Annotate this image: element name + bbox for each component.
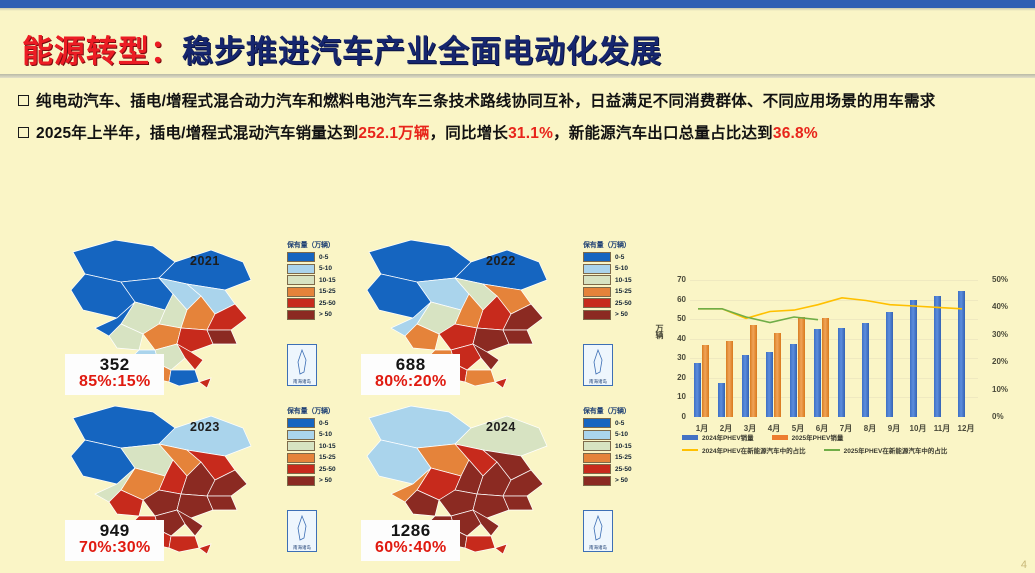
chart-line-layer bbox=[690, 280, 978, 417]
map-stat-box-2022: 688 80%:20% bbox=[361, 354, 460, 395]
legend-value: 10-15 bbox=[319, 443, 336, 450]
bullet-text-2: 2025年上半年，插电/增程式混动汽车销量达到252.1万辆，同比增长31.1%… bbox=[36, 120, 818, 148]
chart-ytick: 30 bbox=[668, 353, 686, 362]
map-panel-2023: 2023 保有量（万辆） 0-5 5-10 10-15 15-25 25-50 … bbox=[55, 398, 345, 561]
legend-swatch bbox=[583, 418, 611, 428]
legend-row: 10-15 bbox=[287, 441, 351, 451]
title-divider bbox=[0, 74, 1035, 78]
legend-swatch bbox=[583, 453, 611, 463]
legend-key-bar-2025 bbox=[772, 435, 788, 440]
chart-y2tick: 50% bbox=[992, 275, 1008, 284]
map-year-label-2021: 2021 bbox=[190, 254, 220, 268]
legend-row: 15-25 bbox=[287, 453, 351, 463]
map-legend-2021: 保有量（万辆） 0-5 5-10 10-15 15-25 25-50 > 50 bbox=[287, 240, 351, 321]
south-sea-inset-2024: 南海诸岛 bbox=[583, 510, 613, 552]
chart-plot-area bbox=[690, 280, 978, 417]
legend-swatch bbox=[583, 430, 611, 440]
legend-item-bar-2025[interactable]: 2025年PHEV销量 bbox=[772, 432, 844, 442]
map-legend-2022: 保有量（万辆） 0-5 5-10 10-15 15-25 25-50 > 50 bbox=[583, 240, 647, 321]
legend-row: 5-10 bbox=[583, 264, 647, 274]
legend-value: 15-25 bbox=[319, 454, 336, 461]
map-legend-2024: 保有量（万辆） 0-5 5-10 10-15 15-25 25-50 > 50 bbox=[583, 406, 647, 487]
bullet-item-1: 纯电动汽车、插电/增程式混合动力汽车和燃料电池汽车三条技术路线协同互补，日益满足… bbox=[14, 88, 1024, 116]
slide-root: 能源转型：稳步推进汽车产业全面电动化发展 纯电动汽车、插电/增程式混合动力汽车和… bbox=[0, 0, 1035, 573]
legend-row: 15-25 bbox=[583, 453, 647, 463]
map-ratio-2022: 80%:20% bbox=[375, 374, 446, 391]
map-year-label-2022: 2022 bbox=[486, 254, 516, 268]
legend-swatch bbox=[583, 287, 611, 297]
legend-swatch bbox=[583, 264, 611, 274]
legend-row: 25-50 bbox=[287, 298, 351, 308]
legend-row: 10-15 bbox=[583, 275, 647, 285]
legend-value: 0-5 bbox=[615, 420, 624, 427]
south-sea-inset-2023: 南海诸岛 bbox=[287, 510, 317, 552]
legend-swatch bbox=[287, 441, 315, 451]
map-ratio-2023: 70%:30% bbox=[79, 540, 150, 557]
legend-row: 0-5 bbox=[287, 418, 351, 428]
legend-row: 10-15 bbox=[583, 441, 647, 451]
legend-label-bar-2025: 2025年PHEV销量 bbox=[792, 432, 844, 442]
map-stat-box-2023: 949 70%:30% bbox=[65, 520, 164, 561]
page-number: 4 bbox=[1021, 559, 1027, 571]
china-maps-group: 2021 保有量（万辆） 0-5 5-10 10-15 15-25 25-50 … bbox=[55, 232, 645, 562]
legend-row: 5-10 bbox=[583, 430, 647, 440]
legend-title: 保有量（万辆） bbox=[583, 240, 647, 250]
legend-key-line-2025 bbox=[824, 449, 840, 451]
legend-swatch bbox=[287, 264, 315, 274]
legend-swatch bbox=[287, 298, 315, 308]
inset-caption: 南海诸岛 bbox=[584, 379, 612, 385]
legend-swatch bbox=[287, 310, 315, 320]
legend-row: 0-5 bbox=[583, 418, 647, 428]
map-year-label-2023: 2023 bbox=[190, 420, 220, 434]
legend-value: 5-10 bbox=[615, 265, 628, 272]
chart-ytick: 70 bbox=[668, 275, 686, 284]
map-total-2023: 949 bbox=[79, 522, 150, 540]
legend-value: 0-5 bbox=[615, 254, 624, 261]
chart-ytick: 60 bbox=[668, 295, 686, 304]
legend-row: > 50 bbox=[583, 310, 647, 320]
bullet-item-2: 2025年上半年，插电/增程式混动汽车销量达到252.1万辆，同比增长31.1%… bbox=[14, 120, 1024, 148]
chart-ytick: 50 bbox=[668, 314, 686, 323]
legend-title: 保有量（万辆） bbox=[583, 406, 647, 416]
legend-row: 0-5 bbox=[287, 252, 351, 262]
bullet-text-1: 纯电动汽车、插电/增程式混合动力汽车和燃料电池汽车三条技术路线协同互补，日益满足… bbox=[36, 88, 935, 116]
legend-swatch bbox=[583, 275, 611, 285]
map-legend-2023: 保有量（万辆） 0-5 5-10 10-15 15-25 25-50 > 50 bbox=[287, 406, 351, 487]
legend-label-line-2025: 2025年PHEV在新能源汽车中的占比 bbox=[844, 445, 948, 455]
legend-item-line-2024[interactable]: 2024年PHEV在新能源汽车中的占比 bbox=[682, 445, 806, 455]
top-bar-shadow bbox=[0, 8, 1035, 11]
inset-caption: 南海诸岛 bbox=[584, 545, 612, 551]
legend-swatch bbox=[583, 476, 611, 486]
legend-row: 15-25 bbox=[287, 287, 351, 297]
chart-legend: 2024年PHEV销量 2025年PHEV销量 2024年PHEV在新能源汽车中… bbox=[682, 432, 1028, 458]
legend-swatch bbox=[583, 310, 611, 320]
legend-swatch bbox=[287, 464, 315, 474]
legend-row: 25-50 bbox=[583, 464, 647, 474]
legend-value: > 50 bbox=[615, 311, 628, 318]
legend-item-line-2025[interactable]: 2025年PHEV在新能源汽车中的占比 bbox=[824, 445, 948, 455]
slide-title: 能源转型：稳步推进汽车产业全面电动化发展 bbox=[0, 30, 1035, 78]
legend-row: > 50 bbox=[287, 476, 351, 486]
legend-value: 5-10 bbox=[319, 265, 332, 272]
legend-value: 15-25 bbox=[319, 288, 336, 295]
legend-row: 25-50 bbox=[287, 464, 351, 474]
legend-value: 5-10 bbox=[615, 431, 628, 438]
chart-y2tick: 30% bbox=[992, 330, 1008, 339]
legend-value: 15-25 bbox=[615, 288, 632, 295]
map-total-2021: 352 bbox=[79, 356, 150, 374]
chart-line-2 bbox=[698, 298, 962, 319]
map-stat-box-2024: 1286 60%:40% bbox=[361, 520, 460, 561]
chart-ytick: 20 bbox=[668, 373, 686, 382]
inset-caption: 南海诸岛 bbox=[288, 545, 316, 551]
legend-swatch bbox=[287, 418, 315, 428]
legend-label-bar-2024: 2024年PHEV销量 bbox=[702, 432, 754, 442]
legend-row: > 50 bbox=[583, 476, 647, 486]
chart-y2tick: 10% bbox=[992, 385, 1008, 394]
top-accent-bar bbox=[0, 0, 1035, 8]
map-year-label-2024: 2024 bbox=[486, 420, 516, 434]
legend-swatch bbox=[583, 464, 611, 474]
chart-legend-row-bars: 2024年PHEV销量 2025年PHEV销量 bbox=[682, 432, 1028, 442]
legend-value: > 50 bbox=[319, 311, 332, 318]
legend-row: 5-10 bbox=[287, 264, 351, 274]
chart-y2tick: 20% bbox=[992, 357, 1008, 366]
legend-row: 15-25 bbox=[583, 287, 647, 297]
legend-value: 25-50 bbox=[615, 466, 632, 473]
legend-value: 0-5 bbox=[319, 254, 328, 261]
square-bullet-icon bbox=[18, 127, 29, 138]
map-ratio-2024: 60%:40% bbox=[375, 540, 446, 557]
bullet-list: 纯电动汽车、插电/增程式混合动力汽车和燃料电池汽车三条技术路线协同互补，日益满足… bbox=[14, 88, 1024, 152]
legend-row: 0-5 bbox=[583, 252, 647, 262]
map-panel-2022: 2022 保有量（万辆） 0-5 5-10 10-15 15-25 25-50 … bbox=[351, 232, 641, 395]
legend-swatch bbox=[287, 453, 315, 463]
legend-value: 25-50 bbox=[319, 300, 336, 307]
legend-swatch bbox=[287, 287, 315, 297]
legend-value: 10-15 bbox=[615, 277, 632, 284]
map-total-2022: 688 bbox=[375, 356, 446, 374]
legend-swatch bbox=[287, 430, 315, 440]
legend-swatch bbox=[583, 298, 611, 308]
title-red-text: 能源转型： bbox=[22, 34, 182, 69]
legend-row: 25-50 bbox=[583, 298, 647, 308]
legend-value: 25-50 bbox=[319, 466, 336, 473]
map-panel-2024: 2024 保有量（万辆） 0-5 5-10 10-15 15-25 25-50 … bbox=[351, 398, 641, 561]
south-sea-inset-2022: 南海诸岛 bbox=[583, 344, 613, 386]
square-bullet-icon bbox=[18, 95, 29, 106]
legend-value: > 50 bbox=[615, 477, 628, 484]
chart-ytick: 40 bbox=[668, 334, 686, 343]
legend-key-line-2024 bbox=[682, 449, 698, 451]
legend-swatch bbox=[287, 252, 315, 262]
chart-y2tick: 0% bbox=[992, 412, 1004, 421]
south-sea-inset-2021: 南海诸岛 bbox=[287, 344, 317, 386]
legend-item-bar-2024[interactable]: 2024年PHEV销量 bbox=[682, 432, 754, 442]
map-total-2024: 1286 bbox=[375, 522, 446, 540]
legend-swatch bbox=[287, 275, 315, 285]
title-blue-text: 稳步推进汽车产业全面电动化发展 bbox=[182, 34, 662, 69]
legend-title: 保有量（万辆） bbox=[287, 406, 351, 416]
chart-legend-row-lines: 2024年PHEV在新能源汽车中的占比 2025年PHEV在新能源汽车中的占比 bbox=[682, 445, 1028, 455]
legend-row: 10-15 bbox=[287, 275, 351, 285]
legend-title: 保有量（万辆） bbox=[287, 240, 351, 250]
legend-key-bar-2024 bbox=[682, 435, 698, 440]
inset-caption: 南海诸岛 bbox=[288, 379, 316, 385]
chart-y-axis-label: 万辆 bbox=[654, 324, 665, 338]
chart-y2tick: 40% bbox=[992, 302, 1008, 311]
legend-label-line-2024: 2024年PHEV在新能源汽车中的占比 bbox=[702, 445, 806, 455]
map-stat-box-2021: 352 85%:15% bbox=[65, 354, 164, 395]
legend-value: 0-5 bbox=[319, 420, 328, 427]
legend-value: 15-25 bbox=[615, 454, 632, 461]
legend-swatch bbox=[583, 252, 611, 262]
map-ratio-2021: 85%:15% bbox=[79, 374, 150, 391]
legend-value: 25-50 bbox=[615, 300, 632, 307]
chart-ytick: 0 bbox=[668, 412, 686, 421]
chart-ytick: 10 bbox=[668, 392, 686, 401]
legend-swatch bbox=[287, 476, 315, 486]
map-panel-2021: 2021 保有量（万辆） 0-5 5-10 10-15 15-25 25-50 … bbox=[55, 232, 345, 395]
phev-sales-chart: 万辆 010203040506070 0%10%20%30%40%50% 1月2… bbox=[652, 272, 1028, 477]
legend-value: 10-15 bbox=[319, 277, 336, 284]
legend-value: 5-10 bbox=[319, 431, 332, 438]
legend-swatch bbox=[583, 441, 611, 451]
legend-row: 5-10 bbox=[287, 430, 351, 440]
legend-row: > 50 bbox=[287, 310, 351, 320]
legend-value: > 50 bbox=[319, 477, 332, 484]
legend-value: 10-15 bbox=[615, 443, 632, 450]
